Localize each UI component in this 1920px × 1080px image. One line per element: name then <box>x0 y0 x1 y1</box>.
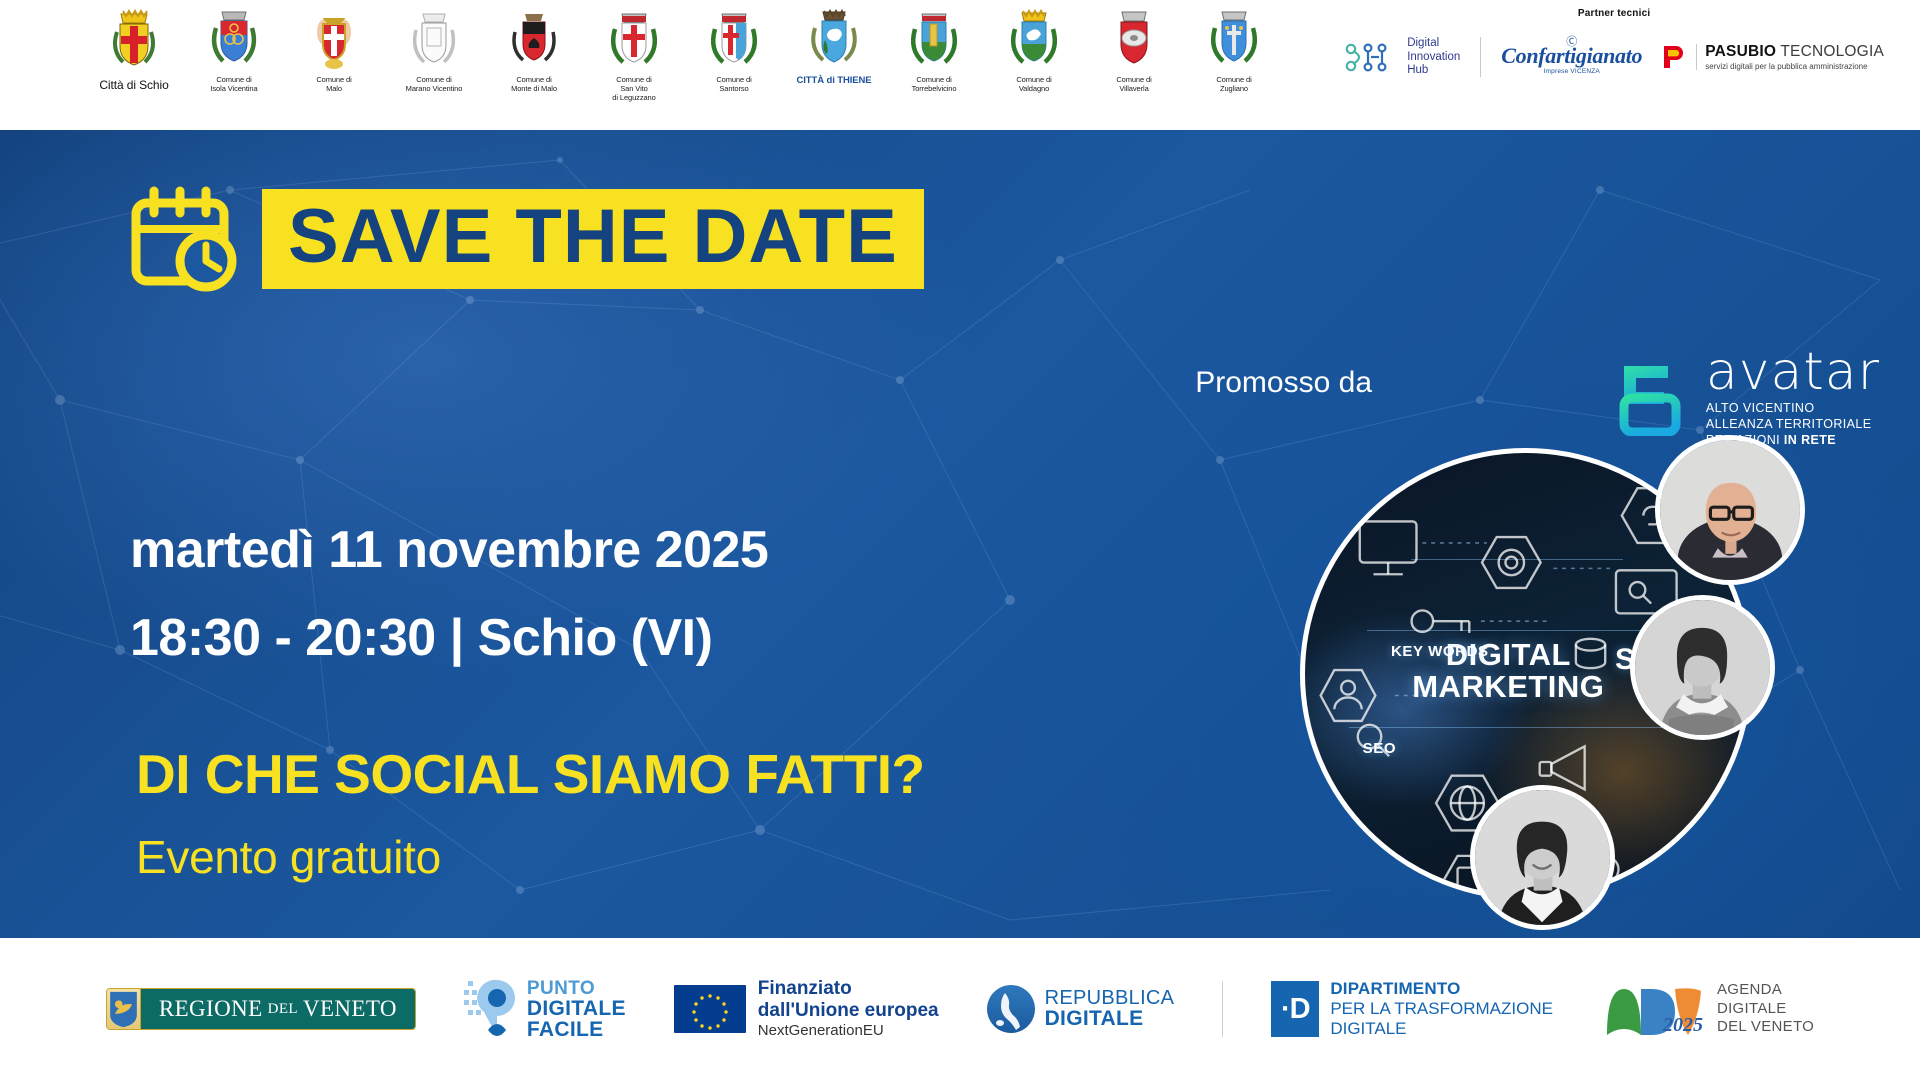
crest-isola-icon <box>203 6 265 72</box>
dm-tag-keywords: KEY WORDS <box>1391 643 1489 660</box>
repubblica-digitale-logo: REPUBBLICA DIGITALE <box>987 985 1175 1033</box>
adv-line-3: DEL VENETO <box>1717 1018 1814 1037</box>
crest-villaverla-icon <box>1103 6 1165 72</box>
rep-line-1: REPUBBLICA <box>1045 988 1175 1009</box>
dih-line-3: Hub <box>1407 64 1460 78</box>
speaker-portrait-1 <box>1655 435 1805 585</box>
pasubio-text: PASUBIO TECNOLOGIA servizi digitali per … <box>1705 44 1884 71</box>
dih-text: Digital Innovation Hub <box>1407 37 1460 78</box>
municipal-crests-row: Città di Schio Comune di Isola Vicentina… <box>0 0 1284 102</box>
confartigianato-name: Confartigianato <box>1501 45 1642 67</box>
crest-schio: Città di Schio <box>84 6 184 93</box>
dm-title-line-2: MARKETING <box>1412 671 1604 703</box>
crest-torrebelvicino-icon <box>903 6 965 72</box>
crest-montedimalo: Comune di Monte di Malo <box>484 6 584 93</box>
speaker-portrait-2 <box>1630 595 1775 740</box>
agenda-digitale-veneto-logo: 2025 AGENDA DIGITALE DEL VENETO <box>1601 981 1814 1037</box>
crest-caption: Comune di Santorso <box>716 75 751 93</box>
eu-funding-text: Finanziato dall'Unione europea NextGener… <box>758 978 939 1039</box>
regione-veneto-logo: REGIONEDELVENETO <box>106 988 416 1030</box>
crest-schio-icon <box>103 6 165 72</box>
partner-tecnici-label: Partner tecnici <box>1578 8 1650 19</box>
adv-mark-icon: 2025 <box>1601 981 1707 1037</box>
eu-line-3: NextGenerationEU <box>758 1022 939 1039</box>
promosso-da-label: Promosso da <box>1195 366 1372 400</box>
avatar-logo: avatar ALTO VICENTINO ALLEANZA TERRITORI… <box>1618 350 1880 448</box>
crest-sanvito: Comune di San Vito di Leguzzano <box>584 6 684 102</box>
avatar-tagline-2: ALLEANZA TERRITORIALE <box>1706 416 1880 432</box>
adv-line-2: DIGITALE <box>1717 1000 1814 1019</box>
dtd-text: DIPARTIMENTO PER LA TRASFORMAZIONE DIGIT… <box>1330 979 1553 1038</box>
crest-caption: Comune di San Vito di Leguzzano <box>612 75 655 102</box>
eu-line-2: dall'Unione europea <box>758 1000 939 1022</box>
technical-partners-block: Partner tecnici <box>1344 0 1920 78</box>
digital-innovation-hub-logo: Digital Innovation Hub <box>1344 37 1460 78</box>
save-the-date-headline: SAVE THE DATE <box>128 185 924 293</box>
crest-santorso-icon <box>703 6 765 72</box>
confartigianato-logo: Ⓒ Confartigianato Imprese VICENZA <box>1501 40 1642 76</box>
pasubio-title: PASUBIO TECNOLOGIA <box>1705 44 1884 60</box>
crest-marano-icon <box>403 6 465 72</box>
location-pin-icon <box>464 978 518 1040</box>
crest-montedimalo-icon <box>503 6 565 72</box>
crest-zugliano: Comune di Zugliano <box>1184 6 1284 93</box>
crest-caption: Comune di Zugliano <box>1216 75 1251 93</box>
dih-line-1: Digital <box>1407 37 1460 51</box>
dih-line-2: Innovation <box>1407 51 1460 65</box>
crest-caption: Comune di Valdagno <box>1016 75 1051 93</box>
crest-torrebelvicino: Comune di Torrebelvicino <box>884 6 984 93</box>
crest-isola: Comune di Isola Vicentina <box>184 6 284 93</box>
eu-line-1: Finanziato <box>758 978 939 1000</box>
crest-santorso: Comune di Santorso <box>684 6 784 93</box>
crest-caption: Città di Schio <box>99 78 168 93</box>
pasubio-divider <box>1696 44 1697 70</box>
pdf-line-1: PUNTO <box>527 979 626 998</box>
adv-line-1: AGENDA <box>1717 981 1814 1000</box>
speaker-portrait-3 <box>1470 785 1615 930</box>
italy-map-icon <box>987 985 1035 1033</box>
dipartimento-trasformazione-digitale-logo: ·D DIPARTIMENTO PER LA TRASFORMAZIONE DI… <box>1271 979 1553 1038</box>
institutional-footer: REGIONEDELVENETO PUNTO DIGITALE FACILE <box>0 938 1920 1080</box>
crest-zugliano-icon <box>1203 6 1265 72</box>
crest-caption: Comune di Isola Vicentina <box>210 75 257 93</box>
veneto-lion-shield-icon <box>107 989 141 1029</box>
speaker-2-photo <box>1635 600 1770 735</box>
rep-line-2: DIGITALE <box>1045 1008 1175 1030</box>
calendar-clock-icon <box>128 185 246 293</box>
crest-malo-icon <box>303 6 365 72</box>
speaker-1-photo <box>1660 440 1800 580</box>
partner-logos-row: Digital Innovation Hub Ⓒ Confartigianato… <box>1344 37 1884 78</box>
punto-digitale-facile-logo: PUNTO DIGITALE FACILE <box>464 978 626 1040</box>
crest-thiene-icon <box>803 6 865 72</box>
pasubio-p-icon <box>1662 44 1688 70</box>
confartigianato-sub: Imprese VICENZA <box>1501 68 1642 75</box>
adv-year-label: 2025 <box>1662 1014 1703 1036</box>
crest-sanvito-icon <box>603 6 665 72</box>
pasubio-tagline: servizi digitali per la pubblica amminis… <box>1705 62 1884 71</box>
pdf-line-3: FACILE <box>527 1019 626 1040</box>
dih-network-icon <box>1344 40 1398 74</box>
eu-flag-icon <box>674 985 746 1033</box>
dtd-line-1: DIPARTIMENTO <box>1330 979 1553 999</box>
regione-veneto-name: REGIONEDELVENETO <box>141 989 415 1029</box>
save-the-date-banner: SAVE THE DATE <box>262 189 924 289</box>
crest-thiene: CITTÀ di THIENE <box>784 6 884 87</box>
crest-marano: Comune di Marano Vicentino <box>384 6 484 93</box>
footer-divider <box>1222 981 1223 1037</box>
dtd-line-2: PER LA TRASFORMAZIONE <box>1330 999 1553 1019</box>
speaker-3-photo <box>1475 790 1610 925</box>
adv-text: AGENDA DIGITALE DEL VENETO <box>1717 981 1814 1037</box>
event-title: DI CHE SOCIAL SIAMO FATTI? <box>136 742 925 806</box>
partner-divider <box>1480 37 1481 77</box>
sponsor-topbar: Città di Schio Comune di Isola Vicentina… <box>0 0 1920 130</box>
avatar-wordmark-block: avatar ALTO VICENTINO ALLEANZA TERRITORI… <box>1706 350 1880 448</box>
punto-digitale-facile-text: PUNTO DIGITALE FACILE <box>527 979 626 1040</box>
dtd-line-3: DIGITALE <box>1330 1019 1553 1039</box>
event-date: martedì 11 novembre 2025 <box>130 520 768 580</box>
crest-caption: Comune di Marano Vicentino <box>406 75 463 93</box>
crest-caption: Comune di Torrebelvicino <box>912 75 957 93</box>
avatar-wordmark: avatar <box>1706 350 1880 396</box>
avatar-mark-icon <box>1618 362 1692 436</box>
crest-caption: Comune di Monte di Malo <box>511 75 557 93</box>
event-time-location: 18:30 - 20:30 | Schio (VI) <box>130 608 712 668</box>
crest-caption: Comune di Villaverla <box>1116 75 1151 93</box>
crest-valdagno-icon <box>1003 6 1065 72</box>
crest-caption: Comune di Malo <box>316 75 351 93</box>
hero-section: SAVE THE DATE martedì 11 novembre 2025 1… <box>0 130 1920 938</box>
eu-funding-logo: Finanziato dall'Unione europea NextGener… <box>674 978 939 1039</box>
repubblica-digitale-text: REPUBBLICA DIGITALE <box>1045 988 1175 1030</box>
dtd-mark-icon: ·D <box>1271 981 1319 1037</box>
crest-valdagno: Comune di Valdagno <box>984 6 1084 93</box>
crest-malo: Comune di Malo <box>284 6 384 93</box>
poster-root: Città di Schio Comune di Isola Vicentina… <box>0 0 1920 1080</box>
crest-caption: CITTÀ di THIENE <box>796 75 871 87</box>
dm-tag-seo: SEO <box>1339 737 1396 759</box>
pdf-line-2: DIGITALE <box>527 998 626 1019</box>
event-free-label: Evento gratuito <box>136 830 441 884</box>
pasubio-tecnologia-logo: PASUBIO TECNOLOGIA servizi digitali per … <box>1662 44 1884 71</box>
avatar-tagline-1: ALTO VICENTINO <box>1706 400 1880 416</box>
crest-villaverla: Comune di Villaverla <box>1084 6 1184 93</box>
